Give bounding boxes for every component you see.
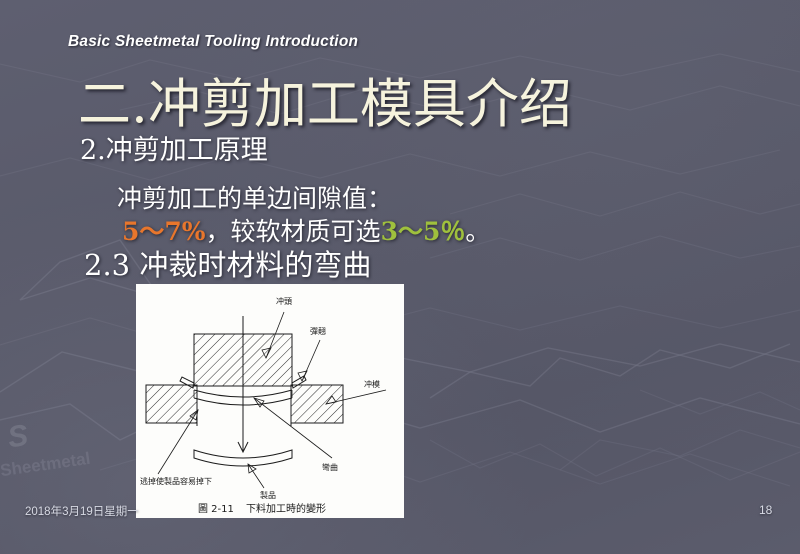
body-line-clearance-values: 5～7%，较软材质可选3～5％。	[122, 219, 490, 244]
figure-label-bending: 彎曲	[322, 462, 338, 472]
footer-page-number: 18	[759, 503, 772, 517]
figure-label-spring-warp: 彈翹	[310, 326, 326, 336]
clearance-value-soft: 3～5％	[381, 217, 466, 246]
figure-label-punch: 冲頭	[276, 296, 292, 306]
figure-caption-number: 圖 2-11	[198, 503, 234, 515]
clearance-text-middle: ，较软材质可选	[206, 217, 381, 246]
watermark-subtext: Sheetmetal	[0, 449, 92, 481]
figure-caption-text: 下料加工時的變形	[246, 502, 326, 515]
body-line-clearance-label: 冲剪加工的单边间隙值：	[117, 186, 392, 211]
figure-panel: 冲頭 彈翹 冲模 彎曲 逃掉使製品容易掉下 製品 圖 2-11 下料加工時的變形	[136, 284, 404, 518]
watermark-letter: S	[5, 418, 32, 455]
page-subtitle: 2.冲剪加工原理	[80, 137, 268, 164]
figure-label-drop-note: 逃掉使製品容易掉下	[140, 476, 212, 486]
page-title: 二.冲剪加工模具介绍	[78, 78, 572, 131]
figure-label-die: 冲模	[364, 379, 380, 389]
body-section-heading: 2.3 冲裁时材料的弯曲	[84, 251, 371, 280]
slide-header: Basic Sheetmetal Tooling Introduction	[68, 33, 358, 51]
clearance-text-end: 。	[465, 217, 490, 246]
clearance-value-hard: 5～7%	[122, 217, 206, 246]
footer-date: 2018年3月19日星期一	[25, 503, 139, 519]
figure-label-product: 製品	[260, 490, 276, 500]
slide-canvas: S Sheetmetal Basic Sheetmetal Tooling In…	[0, 0, 800, 554]
